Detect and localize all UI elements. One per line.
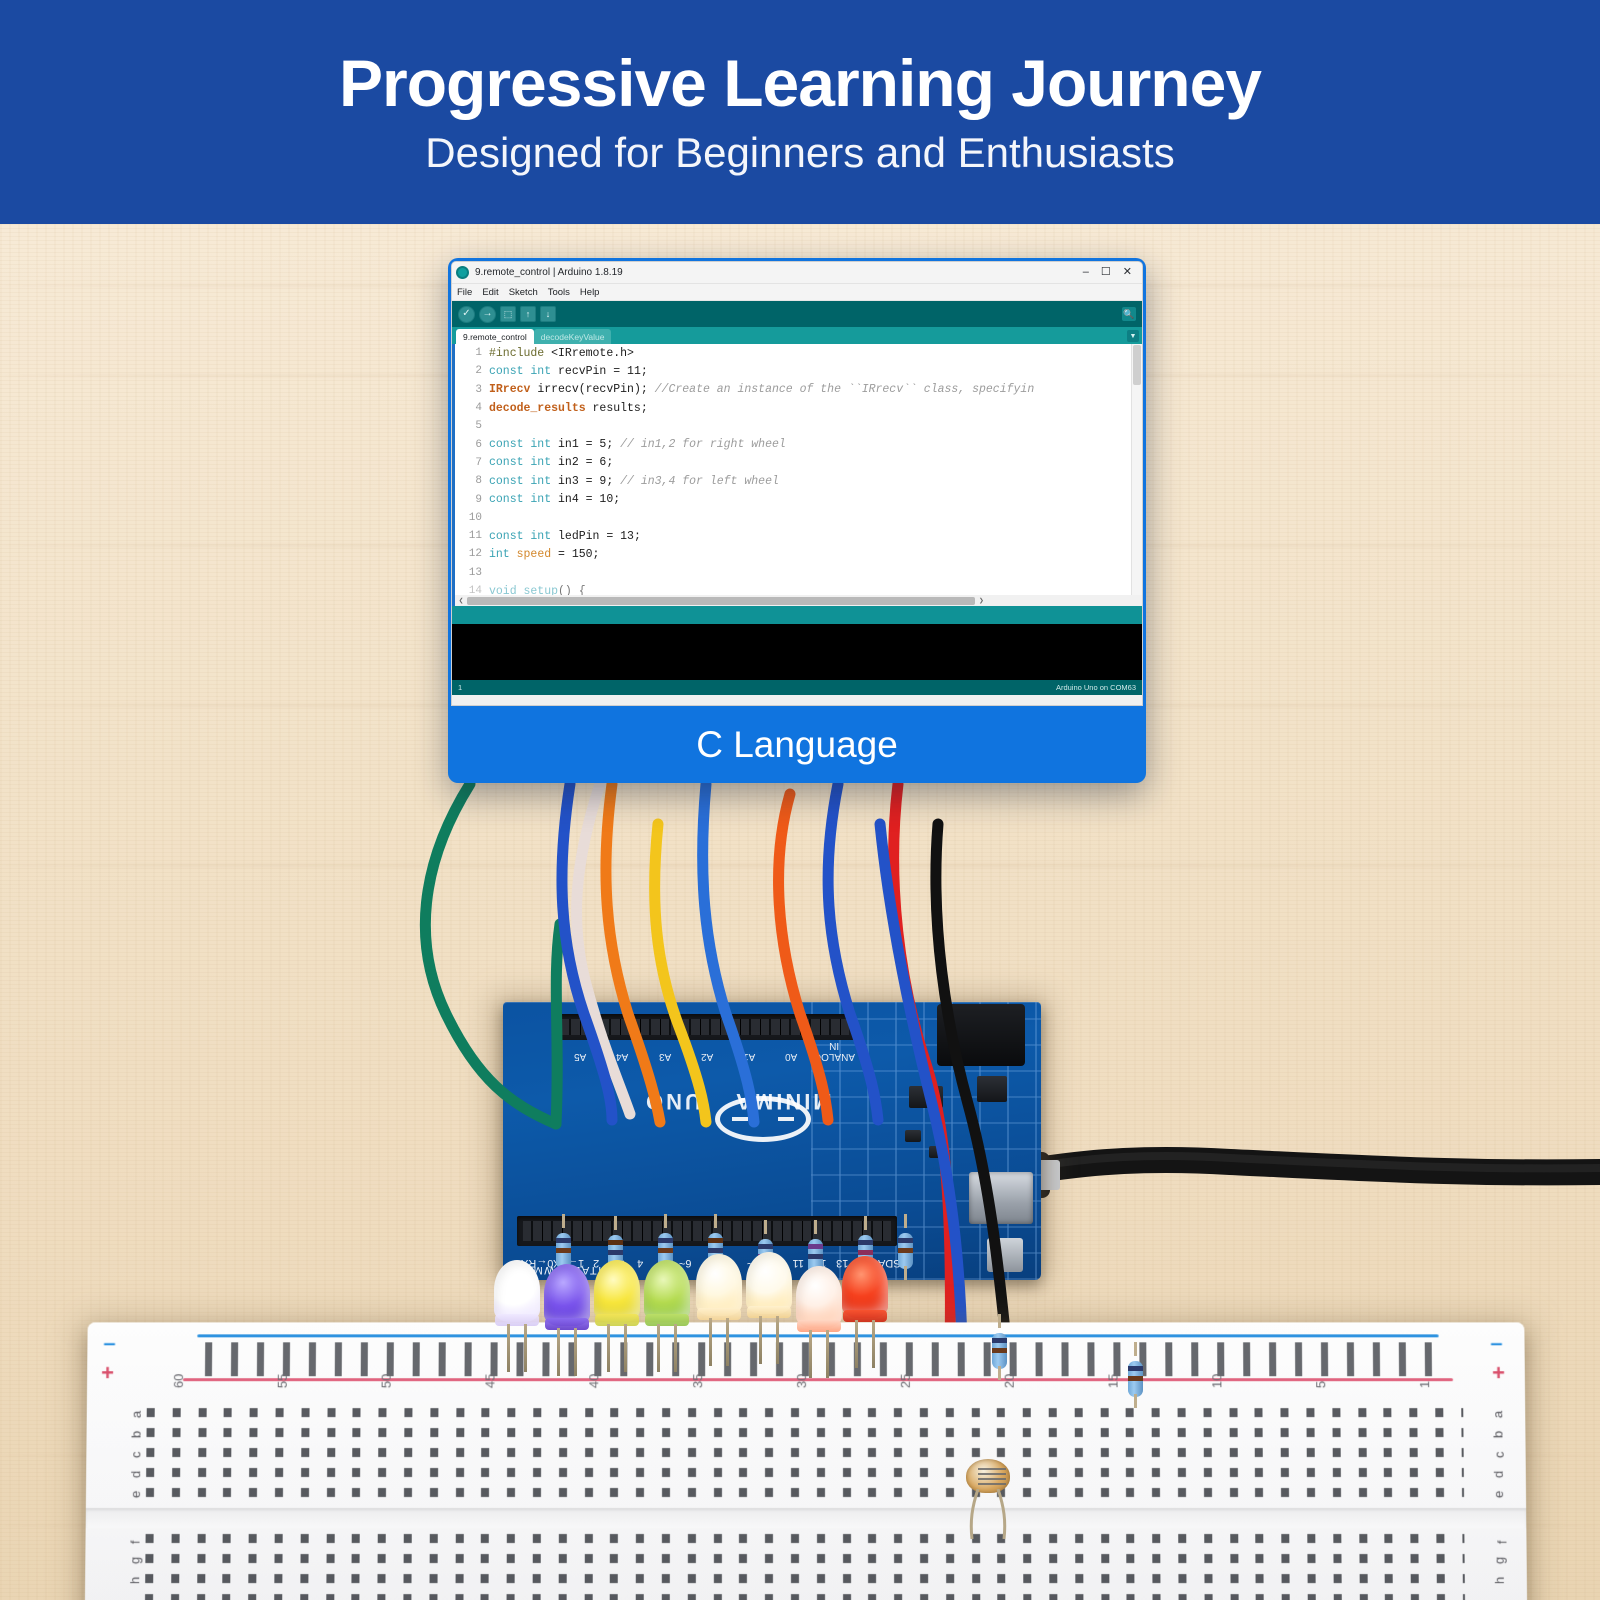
code-token: const int (489, 475, 551, 488)
rail-negative-mark: – (1490, 1330, 1502, 1356)
menu-tools[interactable]: Tools (548, 287, 570, 298)
wire-green (556, 924, 560, 1124)
row-letter: a (1490, 1411, 1505, 1418)
header-banner: Progressive Learning Journey Designed fo… (0, 0, 1600, 224)
wire-blue-2 (703, 784, 754, 1122)
line-number: 13 (455, 567, 489, 579)
column-number: 60 (171, 1374, 186, 1388)
led-pink (796, 1266, 842, 1346)
column-number: 5 (1313, 1381, 1328, 1388)
chevron-left-icon[interactable]: ❮ (455, 596, 467, 606)
row-letter: c (128, 1452, 143, 1458)
ide-console-output (452, 624, 1142, 680)
maximize-button[interactable]: ☐ (1101, 267, 1111, 278)
editor-vertical-scrollbar[interactable] (1131, 344, 1142, 606)
arduino-logo-icon (456, 266, 469, 279)
code-comment: // in1,2 for right wheel (620, 438, 786, 451)
rail-negative-mark: – (103, 1330, 115, 1356)
line-number: 9 (455, 494, 489, 506)
row-letter: g (127, 1557, 142, 1564)
menu-edit[interactable]: Edit (482, 287, 498, 298)
code-line: 4 decode_results results; (455, 399, 1142, 417)
code-line: 8 const int in3 = 9; // in3,4 for left w… (455, 472, 1142, 490)
code-token (510, 548, 517, 561)
code-token: const int (489, 438, 551, 451)
chevron-down-icon[interactable]: ▼ (1127, 330, 1139, 342)
status-board-port: Arduino Uno on COM63 (1056, 683, 1136, 692)
resistor (992, 1324, 1007, 1378)
photoresistor-ldr (962, 1459, 1014, 1539)
tab-9-remote-control[interactable]: 9.remote_control (456, 329, 534, 344)
arduino-ide-card: 9.remote_control | Arduino 1.8.19 – ☐ ✕ … (448, 258, 1146, 783)
ldr-sensor-face (966, 1459, 1010, 1493)
code-token: in2 = 6; (551, 456, 613, 469)
line-number: 4 (455, 402, 489, 414)
line-number: 8 (455, 475, 489, 487)
search-icon[interactable]: 🔍 (1122, 307, 1136, 321)
ide-caption-label: C Language (448, 706, 1146, 783)
row-letter: c (1491, 1452, 1506, 1458)
code-token: = 150; (551, 548, 599, 561)
code-token: <IRremote.h> (551, 347, 634, 360)
column-number: 30 (794, 1374, 809, 1388)
resistor (1128, 1352, 1143, 1406)
hole-row (145, 1594, 1465, 1600)
code-line: 9 const int in4 = 10; (455, 490, 1142, 508)
ide-console-divider (452, 606, 1142, 624)
code-line: 12 int speed = 150; (455, 545, 1142, 563)
hole-row (146, 1488, 1464, 1497)
ide-statusbar: 1 Arduino Uno on COM63 (452, 680, 1142, 695)
code-token: speed (517, 548, 552, 561)
code-token: const int (489, 493, 551, 506)
line-number: 1 (455, 347, 489, 359)
row-letter: f (128, 1540, 143, 1544)
center-channel (86, 1508, 1527, 1528)
column-number: 45 (482, 1374, 497, 1388)
code-token: const int (489, 365, 551, 378)
column-number: 15 (1106, 1374, 1121, 1388)
line-number: 2 (455, 365, 489, 377)
row-letter: e (1491, 1491, 1506, 1498)
arduino-ide-window: 9.remote_control | Arduino 1.8.19 – ☐ ✕ … (451, 261, 1143, 706)
menu-sketch[interactable]: Sketch (509, 287, 538, 298)
menu-help[interactable]: Help (580, 287, 600, 298)
code-token: const int (489, 530, 551, 543)
column-number: 40 (586, 1374, 601, 1388)
wire-orange-2 (779, 794, 828, 1120)
row-letter: e (128, 1491, 143, 1498)
status-line-number: 1 (458, 683, 462, 692)
code-line: 11 const int ledPin = 13; (455, 527, 1142, 545)
code-token: IRrecv (489, 383, 530, 396)
open-button[interactable]: ↑ (520, 306, 536, 322)
row-letter: g (1491, 1557, 1506, 1564)
close-button[interactable]: ✕ (1123, 267, 1132, 278)
rail-positive-mark: + (1492, 1360, 1505, 1386)
column-number: 35 (690, 1374, 705, 1388)
window-controls: – ☐ ✕ (1083, 267, 1138, 278)
led-red (842, 1256, 888, 1336)
code-token: recvPin = 11; (551, 365, 648, 378)
led-white (494, 1260, 540, 1340)
line-number: 12 (455, 548, 489, 560)
row-letter: f (1495, 1540, 1510, 1544)
resistor (898, 1224, 913, 1278)
new-button[interactable]: ⬚ (500, 306, 516, 322)
row-letter: d (1491, 1471, 1506, 1478)
row-letter: a (129, 1411, 144, 1418)
row-letter: h (1492, 1577, 1507, 1584)
code-token: int (489, 548, 510, 561)
hole-row (146, 1534, 1465, 1543)
column-number: 25 (898, 1374, 913, 1388)
menu-file[interactable]: File (457, 287, 472, 298)
code-comment: //Create an instance of the ``IRrecv`` c… (655, 383, 1035, 396)
line-number: 3 (455, 384, 489, 396)
product-photo-scene: UNO MINIMA A5 A4 A3 A2 A1 A0 ANALOG IN 0… (0, 224, 1600, 1600)
column-number: 50 (379, 1374, 394, 1388)
code-token: #include (489, 347, 551, 360)
code-line: 1 #include <IRremote.h> (455, 344, 1142, 362)
row-letter: b (1490, 1431, 1505, 1438)
ldr-leads (962, 1489, 1014, 1541)
code-line: 10 (455, 509, 1142, 527)
code-line: 3 IRrecv irrecv(recvPin); //Create an in… (455, 381, 1142, 399)
ide-titlebar: 9.remote_control | Arduino 1.8.19 – ☐ ✕ (452, 262, 1142, 284)
hole-row (147, 1408, 1464, 1417)
code-line: 13 (455, 564, 1142, 582)
scrollbar-thumb[interactable] (467, 597, 975, 605)
wire-green (425, 784, 556, 1124)
editor-horizontal-scrollbar[interactable]: ❮ ❯ (455, 595, 1142, 606)
hole-row (146, 1468, 1464, 1477)
code-token: decode_results (489, 402, 586, 415)
wire-blue-3 (828, 784, 878, 1120)
code-token: in3 = 9; (551, 475, 620, 488)
hole-row (145, 1574, 1465, 1583)
solderless-breadboard: – + – + 60 55 50 45 40 35 30 25 20 15 10… (84, 1322, 1527, 1600)
led-yellow (594, 1260, 640, 1340)
code-line: 5 (455, 417, 1142, 435)
line-number: 11 (455, 530, 489, 542)
led-warm-white (696, 1254, 742, 1334)
column-number: 55 (275, 1374, 290, 1388)
page-subtitle: Designed for Beginners and Enthusiasts (425, 131, 1174, 175)
led-warm-white-2 (746, 1252, 792, 1332)
scrollbar-thumb[interactable] (1133, 345, 1141, 385)
chevron-right-icon[interactable]: ❯ (975, 596, 987, 606)
line-number: 7 (455, 457, 489, 469)
page-title: Progressive Learning Journey (339, 49, 1261, 118)
ide-menubar: File Edit Sketch Tools Help (452, 284, 1142, 301)
rail-line-positive (183, 1378, 1453, 1381)
code-line: 7 const int in2 = 6; (455, 454, 1142, 472)
ldr-zigzag-pattern (978, 1467, 1006, 1485)
code-token: in4 = 10; (551, 493, 620, 506)
rail-holes-top (205, 1342, 1439, 1376)
code-comment: // in3,4 for left wheel (620, 475, 779, 488)
minimize-button[interactable]: – (1083, 267, 1089, 278)
line-number: 5 (455, 420, 489, 432)
verify-button[interactable]: ✓ (458, 306, 475, 323)
code-editor[interactable]: 1 #include <IRremote.h> 2 const int recv… (452, 344, 1142, 606)
hole-row (146, 1428, 1463, 1437)
rail-positive-mark: + (101, 1360, 114, 1386)
code-token: in1 = 5; (551, 438, 620, 451)
row-letter: d (128, 1471, 143, 1478)
code-token: ledPin = 13; (551, 530, 641, 543)
line-number: 6 (455, 439, 489, 451)
row-letter: h (127, 1577, 142, 1584)
code-line: 6 const int in1 = 5; // in1,2 for right … (455, 435, 1142, 453)
led-green (644, 1260, 690, 1340)
line-number: 10 (455, 512, 489, 524)
code-line: 2 const int recvPin = 11; (455, 362, 1142, 380)
code-token: irrecv(recvPin); (530, 383, 654, 396)
ide-toolbar: ✓ → ⬚ ↑ ↓ 🔍 (452, 301, 1142, 327)
save-button[interactable]: ↓ (540, 306, 556, 322)
hole-row (145, 1554, 1464, 1563)
column-number: 10 (1209, 1374, 1224, 1388)
hole-row (146, 1448, 1463, 1457)
code-token: results; (586, 402, 648, 415)
led-blue (544, 1264, 590, 1344)
column-number: 1 (1417, 1381, 1432, 1388)
code-token: const int (489, 456, 551, 469)
tab-decodekeyvalue[interactable]: decodeKeyValue (534, 329, 612, 344)
upload-button[interactable]: → (479, 306, 496, 323)
row-letter: b (129, 1431, 144, 1438)
ide-window-title: 9.remote_control | Arduino 1.8.19 (475, 267, 623, 278)
ide-tabbar: 9.remote_control decodeKeyValue ▼ (452, 327, 1142, 344)
